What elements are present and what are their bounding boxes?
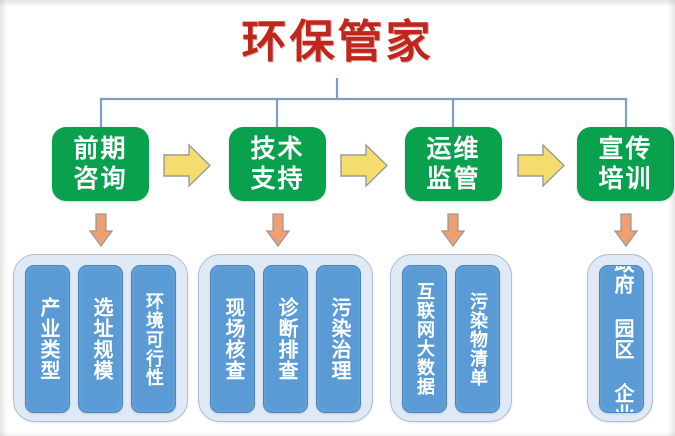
down-arrow-icon <box>440 212 466 248</box>
stage-label-line2: 支持 <box>250 164 304 194</box>
stage-box-2[interactable]: 运维 监管 <box>405 127 502 201</box>
chip-item[interactable]: 环境可行性 <box>131 265 176 413</box>
stage-label-line2: 监管 <box>426 164 480 194</box>
right-chevron-arrow-icon <box>339 143 389 188</box>
down-arrow-icon <box>613 212 639 248</box>
chip-item[interactable]: 现场核查 <box>210 265 255 413</box>
right-chevron-arrow-icon <box>162 143 212 188</box>
chip-row: 产业类型 选址规模 环境可行性 <box>25 265 187 413</box>
stage-label-line1: 技术 <box>250 134 304 164</box>
page-title: 环保管家 <box>0 16 675 68</box>
chip-item[interactable]: 选址规模 <box>78 265 123 413</box>
chip-item[interactable]: 产业类型 <box>25 265 70 413</box>
tree-connector-line <box>0 78 675 130</box>
group-container-1: 现场核查 诊断排查 污染治理 <box>198 254 373 422</box>
chip-item[interactable]: 政府 园区 企业 <box>599 265 644 413</box>
group-container-0: 产业类型 选址规模 环境可行性 <box>13 254 188 422</box>
stage-label-line1: 运维 <box>426 134 480 164</box>
chip-row: 互联网大数据 污染物清单 <box>402 265 511 413</box>
stage-box-0[interactable]: 前期 咨询 <box>52 127 149 201</box>
diagram-canvas: 环保管家 前期 咨询 技术 支持 运维 监管 宣传 培训 <box>0 0 675 436</box>
down-arrow-icon <box>88 212 114 248</box>
right-chevron-arrow-icon <box>516 143 566 188</box>
chip-item[interactable]: 诊断排查 <box>263 265 308 413</box>
group-container-2: 互联网大数据 污染物清单 <box>390 254 512 422</box>
chip-row: 政府 园区 企业 <box>599 265 652 413</box>
group-container-3: 政府 园区 企业 <box>587 254 653 422</box>
stage-box-3[interactable]: 宣传 培训 <box>577 127 674 201</box>
stage-label-line2: 培训 <box>598 164 652 194</box>
chip-item[interactable]: 互联网大数据 <box>402 265 447 413</box>
chip-item[interactable]: 污染治理 <box>316 265 361 413</box>
stage-label-line1: 前期 <box>73 134 127 164</box>
stage-label-line1: 宣传 <box>598 134 652 164</box>
down-arrow-icon <box>265 212 291 248</box>
stage-label-line2: 咨询 <box>73 164 127 194</box>
chip-row: 现场核查 诊断排查 污染治理 <box>210 265 372 413</box>
stage-box-1[interactable]: 技术 支持 <box>229 127 326 201</box>
chip-item[interactable]: 污染物清单 <box>455 265 500 413</box>
